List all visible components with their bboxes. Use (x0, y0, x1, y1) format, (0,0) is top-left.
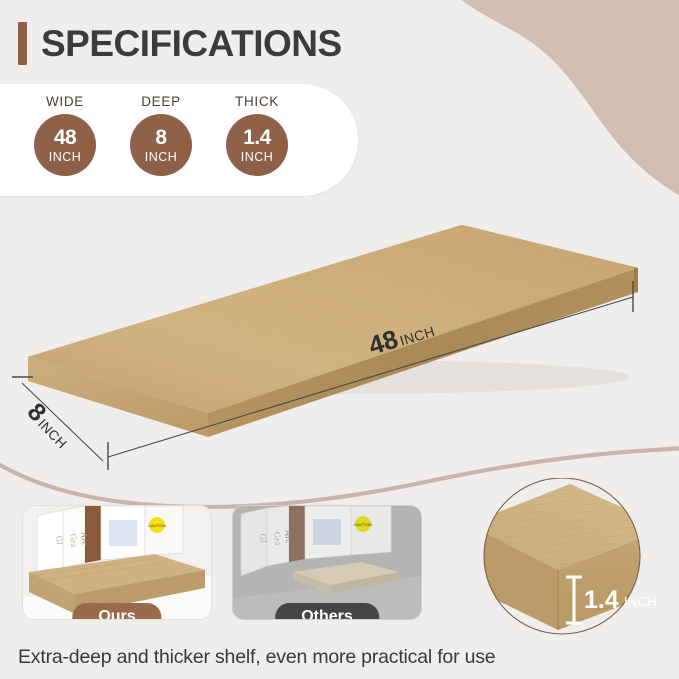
decorative-blob-shape (367, 0, 679, 220)
svg-text:CAUTION: CAUTION (354, 522, 372, 527)
title-accent-bar (18, 22, 27, 65)
others-label-pill[interactable]: Others (275, 603, 379, 620)
svg-text:CAUTION: CAUTION (148, 523, 166, 528)
bottom-caption: Extra-deep and thicker shelf, even more … (18, 646, 495, 669)
spec-label-deep: DEEP (141, 94, 181, 109)
comparison-panel-others[interactable]: CAUTION Gl Gra Arc Others (232, 505, 422, 620)
svg-text:Gra: Gra (272, 531, 283, 545)
spec-circle-thick: 1.4 INCH (226, 114, 288, 176)
spec-label-wide: WIDE (46, 94, 84, 109)
spec-item-wide: WIDE 48 INCH (32, 94, 98, 176)
page-header: SPECIFICATIONS (18, 22, 342, 65)
spec-value-thick: 1.4 (243, 127, 271, 148)
spec-circle-wide: 48 INCH (34, 114, 96, 176)
ours-label-pill[interactable]: Ours (72, 603, 161, 620)
spec-item-deep: DEEP 8 INCH (128, 94, 194, 176)
page-root: SPECIFICATIONS WIDE 48 INCH DEEP 8 INCH … (0, 0, 679, 679)
spec-item-list: WIDE 48 INCH DEEP 8 INCH THICK 1.4 INCH (32, 94, 290, 176)
svg-text:Gl: Gl (258, 533, 269, 543)
thickness-unit: INCH (624, 594, 657, 609)
hero-shelf-illustration: 48 INCH 8 INCH (0, 205, 679, 470)
svg-text:Gra: Gra (68, 533, 79, 547)
spec-value-wide: 48 (54, 127, 76, 148)
hero-depth-unit: INCH (35, 416, 70, 451)
page-title: SPECIFICATIONS (41, 23, 342, 65)
spec-label-thick: THICK (235, 94, 279, 109)
comparison-row: CAUTION Gl Gra Arc Ours (22, 505, 422, 625)
spec-value-deep: 8 (155, 127, 166, 148)
svg-text:Arc: Arc (283, 529, 294, 543)
svg-text:Arc: Arc (79, 531, 90, 545)
svg-text:Gl: Gl (54, 535, 65, 545)
spec-item-thick: THICK 1.4 INCH (224, 94, 290, 176)
thickness-closeup: 1.4 INCH (462, 478, 672, 643)
spec-unit-wide: INCH (49, 151, 82, 164)
comparison-panel-ours[interactable]: CAUTION Gl Gra Arc Ours (22, 505, 212, 620)
spec-unit-deep: INCH (145, 151, 178, 164)
spec-circle-deep: 8 INCH (130, 114, 192, 176)
spec-unit-thick: INCH (241, 151, 274, 164)
specifications-card: WIDE 48 INCH DEEP 8 INCH THICK 1.4 INCH (0, 84, 358, 196)
thickness-value: 1.4 (584, 586, 619, 614)
